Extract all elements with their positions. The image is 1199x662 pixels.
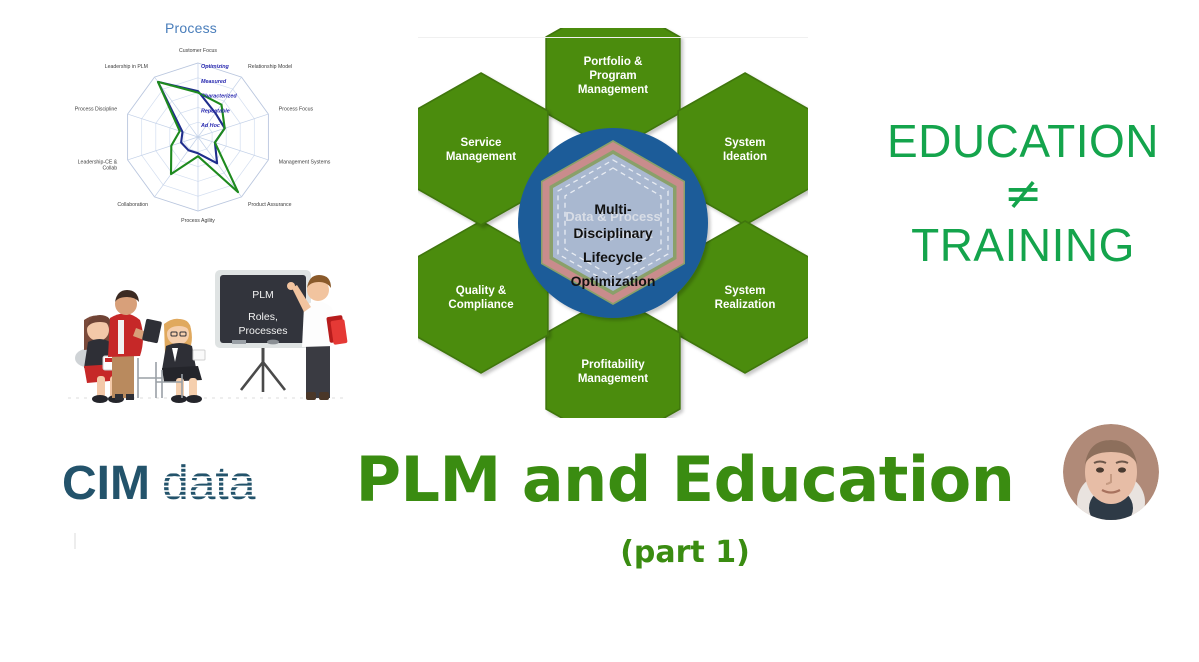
hex-petal-label: Management — [446, 151, 516, 163]
student-woman-center — [162, 319, 205, 403]
hex-petal-label: Portfolio & — [584, 56, 643, 68]
hex-petal-label: System — [725, 285, 766, 297]
hex-petal-label: Profitability — [581, 359, 645, 371]
hex-petal-label: System — [725, 137, 766, 149]
slide-canvas: Process Customer FocusRelationship Model… — [0, 0, 1199, 662]
radar-axis-label: Process Agility — [181, 218, 215, 224]
radar-ring-label: Measured — [201, 79, 227, 85]
radar-axis-labels: Customer FocusRelationship ModelProcess … — [75, 48, 331, 224]
hex-petal-label: Realization — [715, 299, 776, 311]
radar-axis-label: Leadership in PLM — [105, 64, 148, 70]
process-radar-chart: Process Customer FocusRelationship Model… — [55, 8, 345, 258]
hex-petal-label: Management — [578, 84, 648, 96]
radar-ring-label: Optimizing — [201, 64, 230, 70]
classroom-illustration: PLM Roles, Processes — [60, 258, 350, 413]
hex-petal-label: Service — [461, 137, 502, 149]
center-label-line: Multi- — [594, 201, 632, 217]
radar-axis-label: Management Systems — [279, 159, 331, 165]
page-title: PLM and Education — [300, 443, 1070, 516]
statement-not-equal-icon: ≠ — [868, 170, 1178, 216]
statement-line-training: TRAINING — [868, 222, 1178, 268]
board-line-2: Roles, — [248, 311, 278, 323]
board-line-1: PLM — [252, 289, 274, 301]
plm-hexagon-diagram: Portfolio &ProgramManagementSystemIdeati… — [418, 28, 808, 418]
radar-axis-label: Customer Focus — [179, 48, 217, 54]
radar-ring-label: Ad Hoc — [200, 123, 220, 129]
radar-axis-label: Collab — [102, 165, 117, 171]
center-label-line: Lifecycle — [583, 249, 643, 265]
logo-faint-mark — [74, 533, 76, 549]
radar-axis-label: Collaboration — [117, 202, 148, 208]
cimdata-logo: CIM data — [62, 455, 292, 515]
statement-line-education: EDUCATION — [868, 118, 1178, 164]
logo-text-cim: CIM — [62, 457, 150, 510]
radar-axis-label: Process Focus — [279, 107, 314, 113]
hex-petal-label: Management — [578, 373, 648, 385]
student-man-standing — [108, 290, 162, 400]
hexagon-center: Data & ProcessManagement Multi-Disciplin… — [518, 128, 708, 318]
hex-petal-label: Quality & — [456, 285, 506, 297]
radar-svg: Customer FocusRelationship ModelProcess … — [55, 32, 345, 258]
center-label-line: Optimization — [571, 273, 656, 289]
hex-petal-label: Compliance — [448, 299, 513, 311]
presenter-avatar — [1063, 424, 1159, 520]
education-not-training-statement: EDUCATION ≠ TRAINING — [868, 118, 1178, 268]
radar-axis-label: Product Assurance — [248, 202, 292, 208]
radar-ring-label: Characterized — [201, 94, 237, 100]
page-subtitle: (part 1) — [300, 535, 1070, 570]
hex-petal-label: Ideation — [723, 151, 767, 163]
diagram-top-rule — [418, 37, 808, 38]
hex-petal-label: Program — [589, 70, 636, 82]
center-label-line: Disciplinary — [573, 225, 653, 241]
logo-text-data: data — [162, 457, 256, 510]
radar-ring-label: Repeatable — [201, 108, 230, 114]
radar-axis-label: Relationship Model — [248, 64, 292, 70]
board-line-3: Processes — [238, 325, 287, 337]
radar-axis-label: Process Discipline — [75, 107, 117, 113]
